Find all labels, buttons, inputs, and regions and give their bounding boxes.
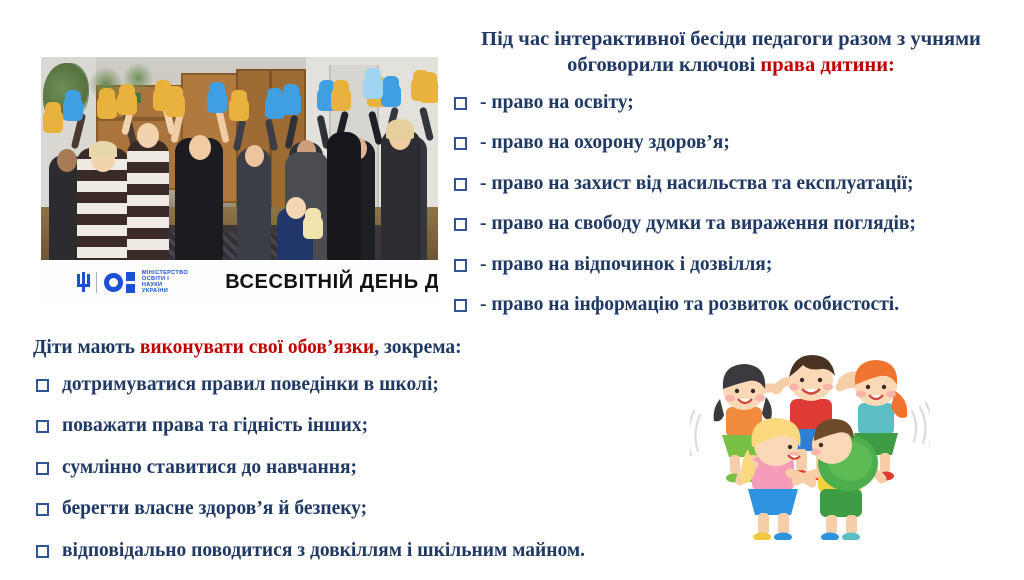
list-item-label: - право на свободу думки та вираження по… [480,212,916,235]
rights-heading-accent: права дитини: [760,54,894,76]
list-item-label: берегти власне здоров’я й безпеку; [62,497,367,520]
checkbox-bullet-icon [36,420,51,435]
list-item: сумлінно ставитися до навчання; [36,456,696,479]
checkbox-bullet-icon [36,503,51,518]
list-item-label: - право на інформацію та розвиток особис… [480,293,899,316]
photo-banner: МІНІСТЕРСТВО ОСВІТИ І НАУКИ УКРАЇНИ ВСЕС… [41,260,438,304]
ministry-line-1: МІНІСТЕРСТВО [142,270,189,276]
checkbox-bullet-icon [36,379,51,394]
duties-heading-prefix: Діти мають [33,337,140,358]
list-item: - право на інформацію та розвиток особис… [454,293,1024,316]
checkbox-bullet-icon [36,545,51,560]
children-circle-illustration [690,345,930,540]
list-item: - право на охорону здоров’я; [454,131,1024,154]
ministry-logo: МІНІСТЕРСТВО ОСВІТИ І НАУКИ УКРАЇНИ [77,270,189,295]
duties-list: дотримуватися правил поведінки в школі; … [36,373,696,580]
logo-ring-icon [104,273,123,292]
banner-title: ВСЕСВІТНІЙ ДЕНЬ ДИТИНИ [225,271,438,294]
rights-heading: Під час інтерактивної бесіди педагоги ра… [448,26,1014,78]
checkbox-bullet-icon [36,462,51,477]
list-item: - право на освіту; [454,91,1024,114]
rights-heading-line-1: Під час інтерактивної бесіди педагоги ра… [481,28,981,50]
slide-canvas: МІНІСТЕРСТВО ОСВІТИ І НАУКИ УКРАЇНИ ВСЕС… [0,0,1024,577]
list-item-label: - право на захист від насильства та експ… [480,172,914,195]
checkbox-bullet-icon [454,178,469,193]
rights-heading-line-2: обговорили ключові [567,54,760,76]
ministry-line-2: ОСВІТИ І НАУКИ [142,276,189,289]
classroom-photo [41,57,438,260]
list-item-label: - право на освіту; [480,91,634,114]
list-item-label: дотримуватися правил поведінки в школі; [62,373,439,396]
list-item-label: відповідально поводитися з довкіллям і ш… [62,539,585,562]
list-item: поважати права та гідність інших; [36,414,696,437]
list-item: - право на відпочинок і дозвілля; [454,253,1024,276]
checkbox-bullet-icon [454,218,469,233]
photo-block: МІНІСТЕРСТВО ОСВІТИ І НАУКИ УКРАЇНИ ВСЕС… [41,57,438,304]
rights-list: - право на освіту; - право на охорону зд… [454,91,1024,333]
checkbox-bullet-icon [454,137,469,152]
logo-squares-icon [126,272,135,293]
list-item-label: - право на відпочинок і дозвілля; [480,253,772,276]
ministry-name: МІНІСТЕРСТВО ОСВІТИ І НАУКИ УКРАЇНИ [142,270,189,295]
trident-icon [77,272,89,292]
checkbox-bullet-icon [454,299,469,314]
list-item-label: сумлінно ставитися до навчання; [62,456,357,479]
list-item: - право на свободу думки та вираження по… [454,212,1024,235]
list-item: дотримуватися правил поведінки в школі; [36,373,696,396]
duties-heading-suffix: , зокрема: [374,337,461,358]
list-item: берегти власне здоров’я й безпеку; [36,497,696,520]
checkbox-bullet-icon [454,259,469,274]
list-item: - право на захист від насильства та експ… [454,172,1024,195]
list-item-label: поважати права та гідність інших; [62,414,368,437]
duties-heading: Діти мають виконувати свої обов’язки, зо… [33,337,462,359]
checkbox-bullet-icon [454,97,469,112]
ministry-line-3: УКРАЇНИ [142,288,189,294]
children-circle-clipart [690,345,930,540]
list-item-label: - право на охорону здоров’я; [480,131,730,154]
logo-divider [96,272,97,293]
list-item: відповідально поводитися з довкіллям і ш… [36,539,696,562]
duties-heading-accent: виконувати свої обов’язки [140,337,374,358]
